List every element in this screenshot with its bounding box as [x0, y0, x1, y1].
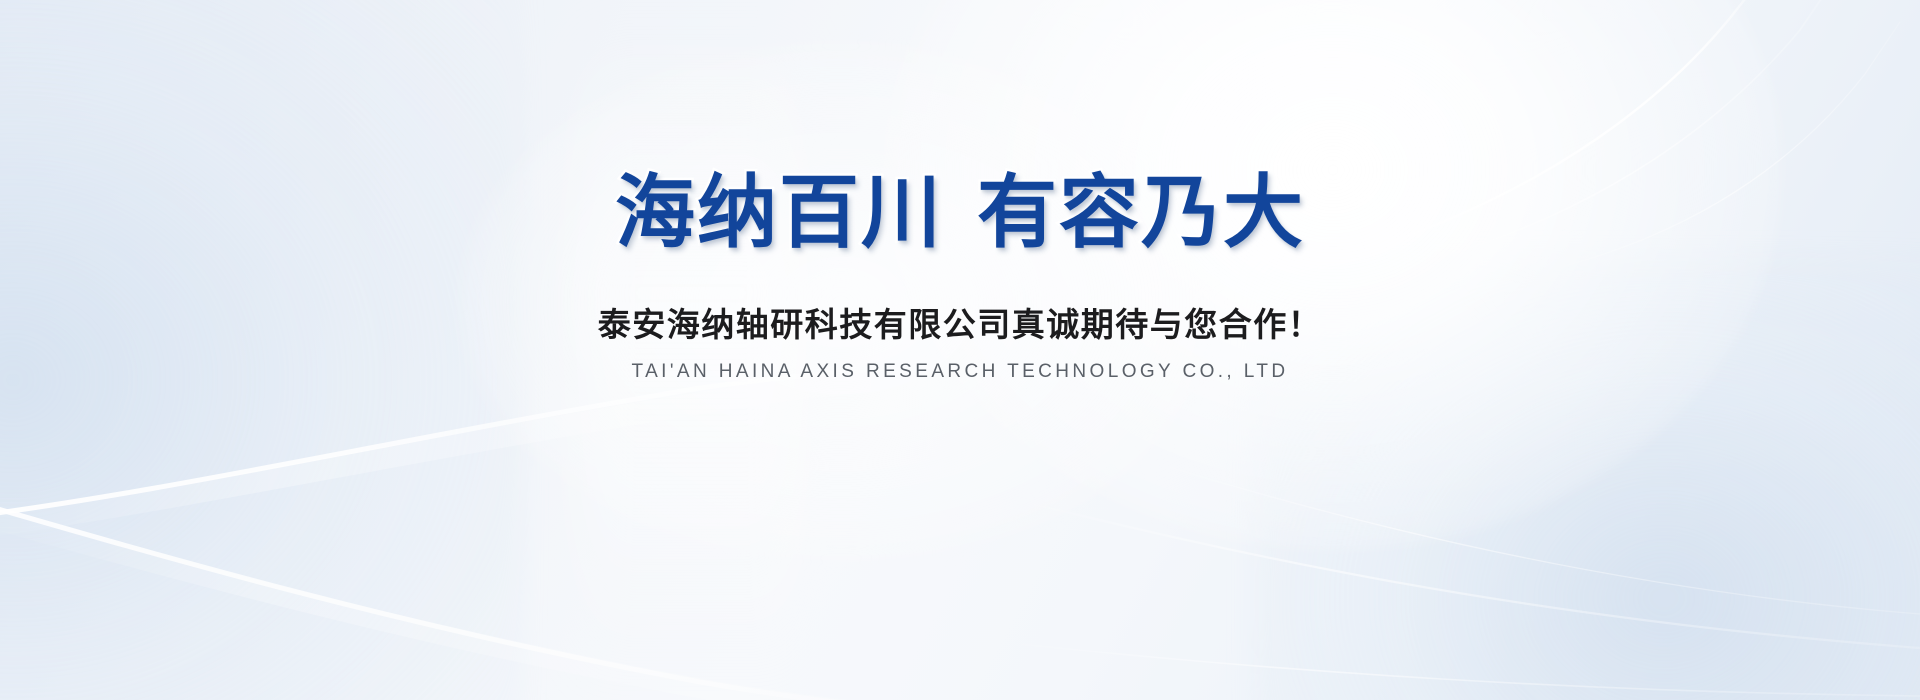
banner-headline: 海纳百川有容乃大: [0, 168, 1920, 258]
banner-content: 海纳百川有容乃大 泰安海纳轴研科技有限公司真诚期待与您合作！ TAI'AN HA…: [0, 0, 1920, 700]
banner-subtitle-english: TAI'AN HAINA AXIS RESEARCH TECHNOLOGY CO…: [0, 360, 1920, 385]
headline-part-2: 有容乃大: [977, 168, 1305, 257]
headline-part-1: 海纳百川: [615, 168, 943, 257]
banner-subtitle-chinese: 泰安海纳轴研科技有限公司真诚期待与您合作！: [0, 304, 1920, 345]
hero-banner: 海纳百川有容乃大 泰安海纳轴研科技有限公司真诚期待与您合作！ TAI'AN HA…: [0, 0, 1920, 700]
